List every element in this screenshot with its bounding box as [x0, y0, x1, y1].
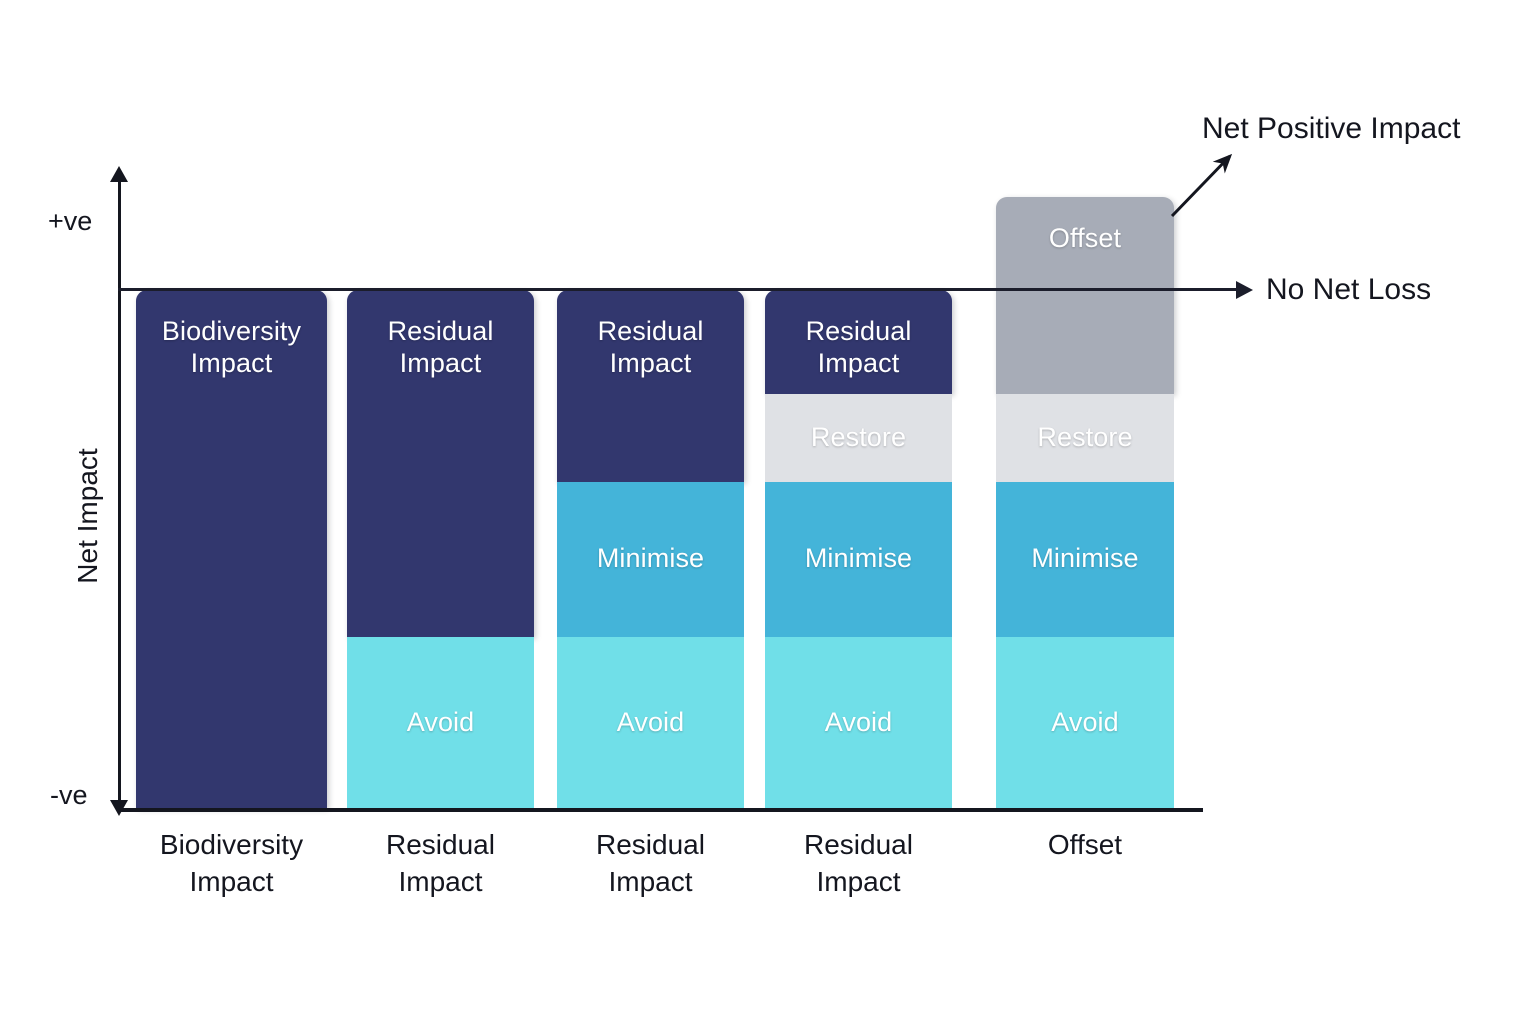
x-axis-tick-label: Biodiversity Impact [136, 826, 327, 900]
y-axis-positive-label: +ve [48, 206, 92, 237]
arrow-right-icon [1236, 281, 1253, 299]
y-axis-title: Net Impact [72, 406, 104, 626]
bar-segment[interactable]: Restore [765, 394, 952, 482]
y-axis-negative-label: -ve [50, 780, 88, 811]
bar-segment[interactable]: Minimise [765, 482, 952, 637]
x-axis-tick-label: Offset [996, 826, 1174, 863]
bar-segment-label: Avoid [403, 707, 479, 739]
bar-segment[interactable]: Minimise [996, 482, 1174, 637]
bar-segment-label: Restore [1033, 422, 1136, 454]
x-axis-tick-label: Residual Impact [557, 826, 744, 900]
chart-canvas: Biodiversity ImpactResidual ImpactAvoidR… [0, 0, 1536, 1024]
bar-segment-label: Avoid [613, 707, 689, 739]
bar-segment-label: Residual Impact [557, 316, 744, 380]
bar-segment-label: Minimise [593, 543, 708, 575]
x-axis-tick-label: Residual Impact [347, 826, 534, 900]
bar-segment[interactable]: Biodiversity Impact [136, 290, 327, 808]
bar-segment-label: Offset [996, 223, 1174, 255]
bar-column[interactable]: OffsetRestoreMinimiseAvoid [996, 0, 1174, 1024]
bar-segment[interactable]: Restore [996, 394, 1174, 482]
no-net-loss-line [118, 288, 1238, 291]
diagonal-arrow-up-right-icon [1168, 148, 1240, 220]
bar-segment-label: Avoid [821, 707, 897, 739]
x-axis-line [118, 808, 1203, 812]
bar-segment[interactable]: Residual Impact [347, 290, 534, 637]
bar-segment-label: Residual Impact [765, 316, 952, 380]
y-axis-line [118, 178, 121, 812]
bar-segment[interactable]: Minimise [557, 482, 744, 637]
net-positive-impact-label: Net Positive Impact [1202, 112, 1460, 146]
bar-segment-label: Biodiversity Impact [136, 316, 327, 380]
bar-segment[interactable]: Avoid [347, 637, 534, 808]
bar-segment[interactable]: Avoid [557, 637, 744, 808]
bar-segment[interactable]: Avoid [996, 637, 1174, 808]
bar-segment-label: Avoid [1047, 707, 1123, 739]
bar-segment[interactable]: Residual Impact [557, 290, 744, 482]
bar-segment[interactable]: Offset [996, 197, 1174, 394]
bar-segment-label: Residual Impact [347, 316, 534, 380]
bar-segment[interactable]: Residual Impact [765, 290, 952, 394]
x-axis-tick-label: Residual Impact [765, 826, 952, 900]
bar-segment[interactable]: Avoid [765, 637, 952, 808]
arrow-up-icon [110, 166, 128, 182]
no-net-loss-label: No Net Loss [1266, 273, 1431, 307]
bar-segment-label: Restore [807, 422, 910, 454]
bar-segment-label: Minimise [1027, 543, 1142, 575]
bar-segment-label: Minimise [801, 543, 916, 575]
